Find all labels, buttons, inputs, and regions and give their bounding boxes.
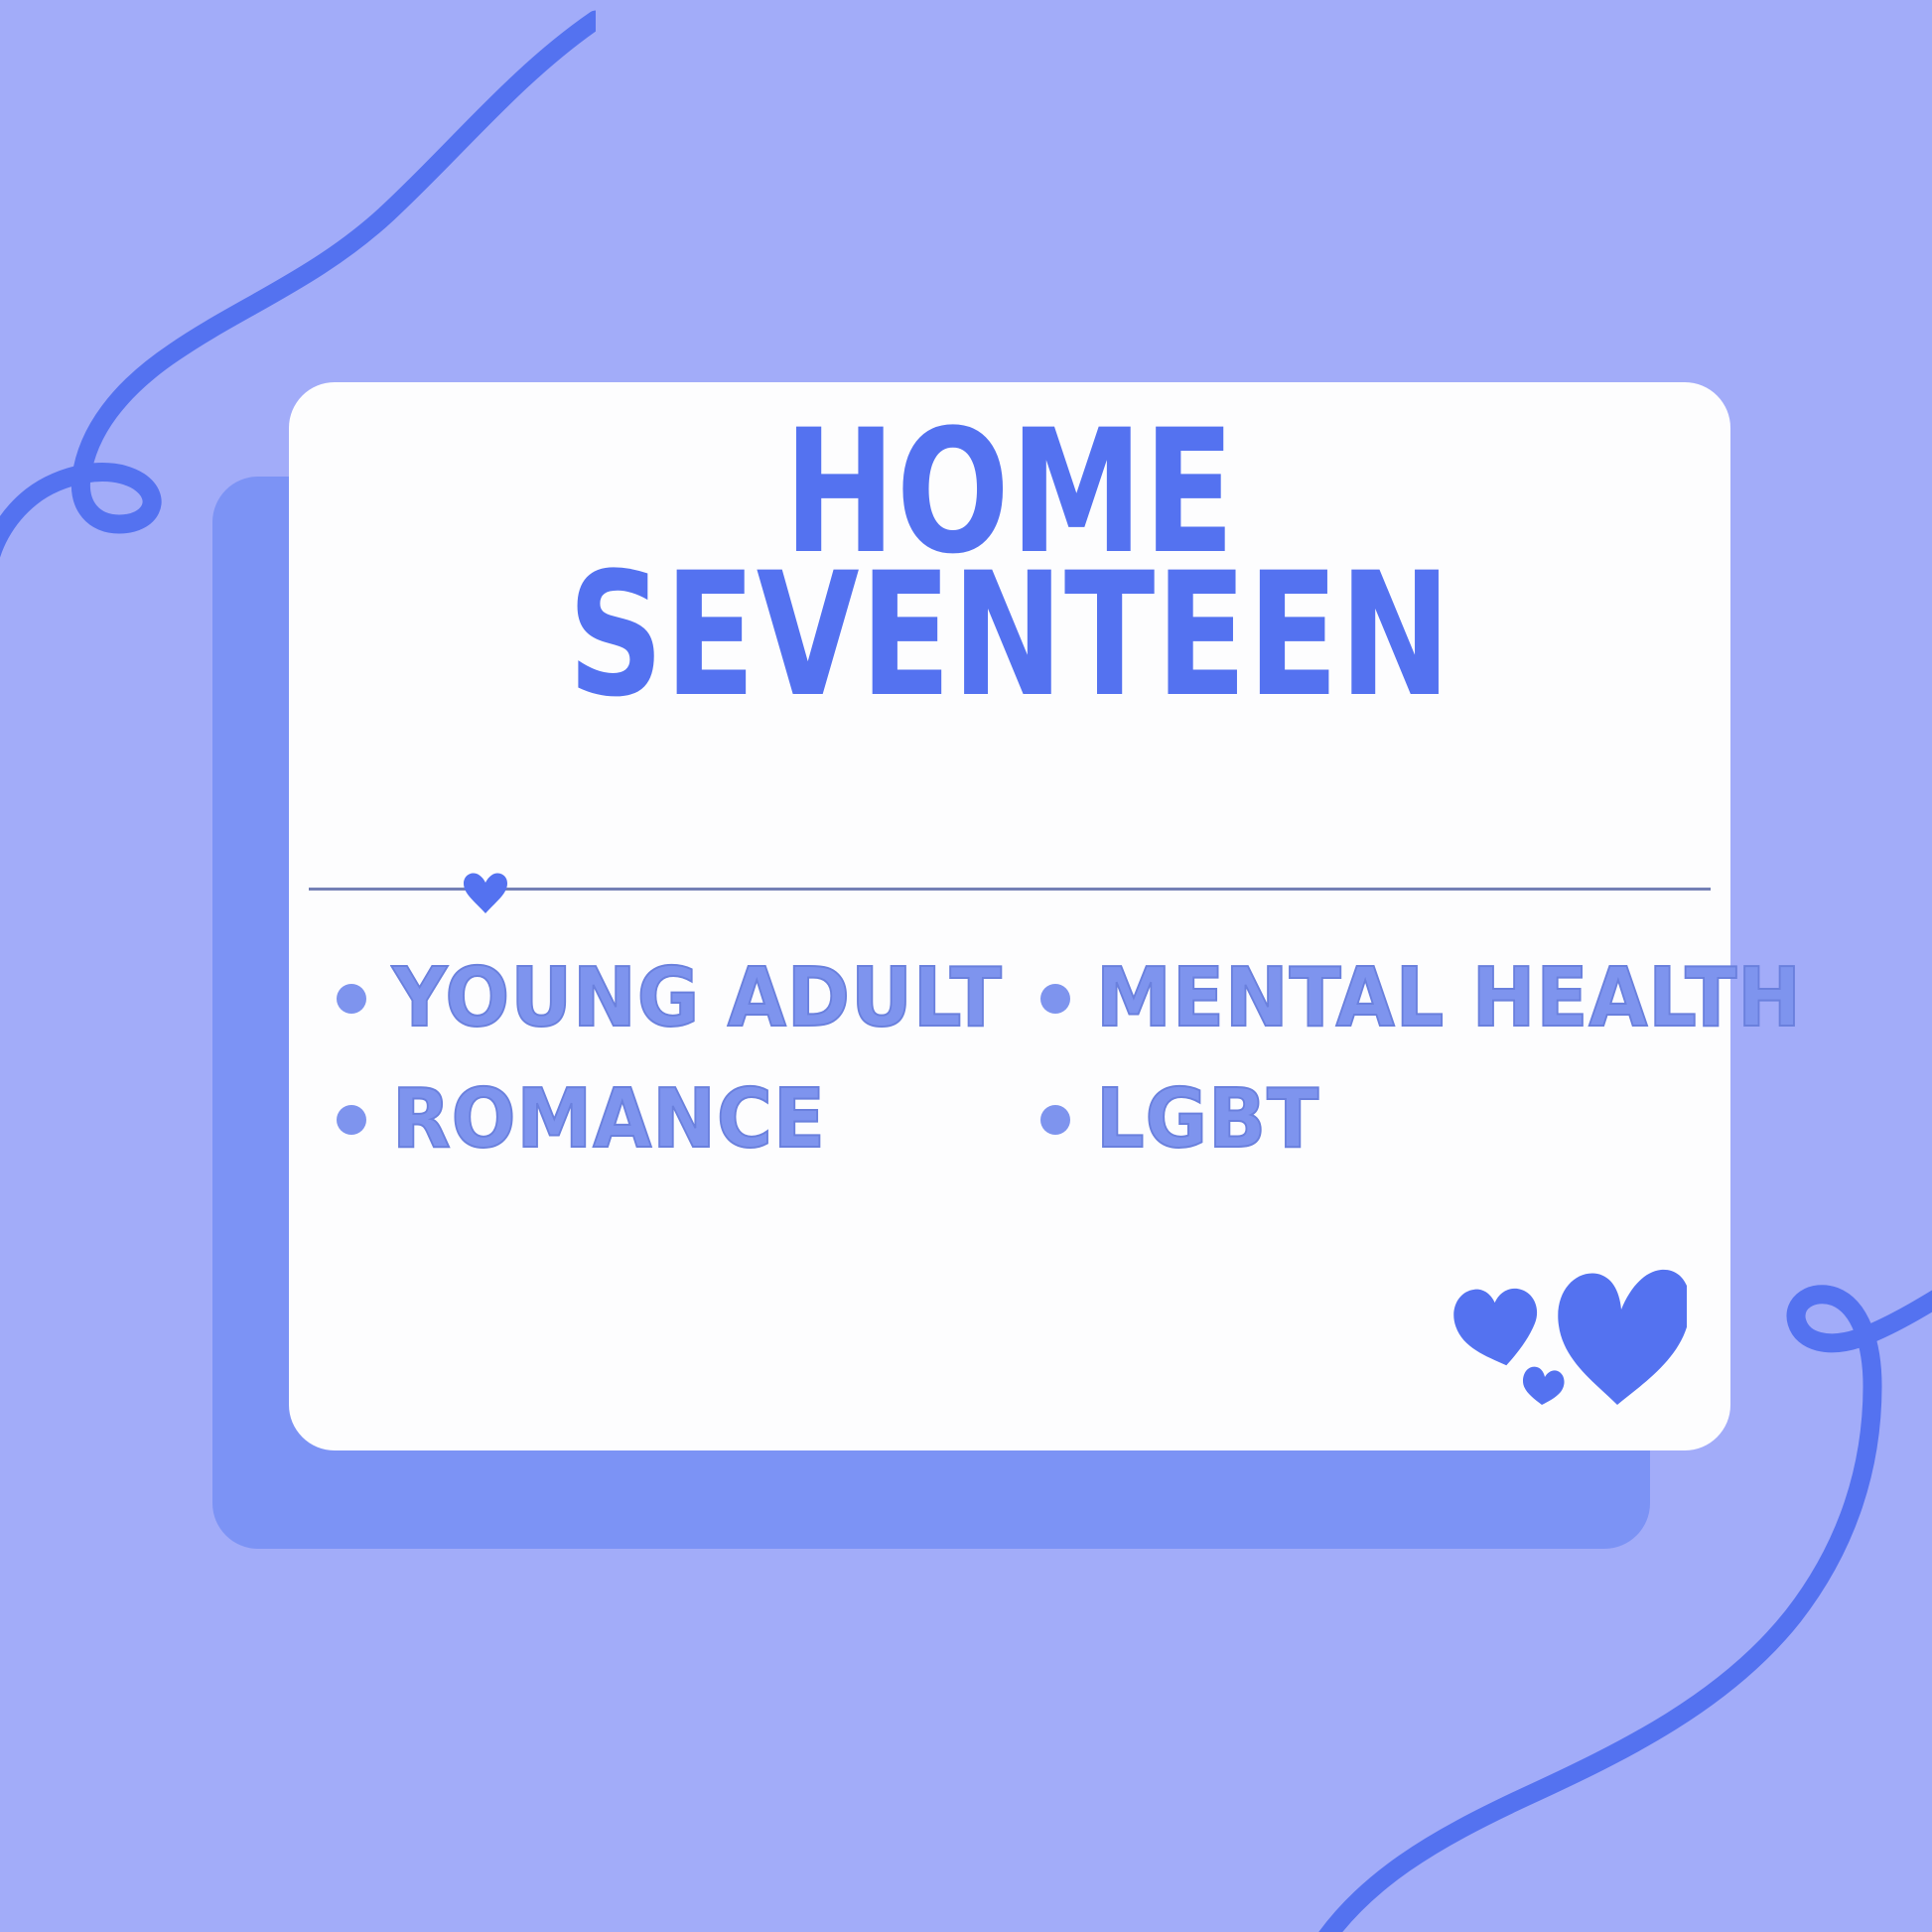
genre-label: ROMANCE: [392, 1079, 826, 1161]
heart-tiny-icon: [1523, 1367, 1565, 1405]
list-item[interactable]: ROMANCE: [337, 1079, 1040, 1161]
hearts-decoration: [1439, 1264, 1687, 1423]
list-item[interactable]: LGBT: [1040, 1079, 1691, 1161]
bullet-dot-icon: [337, 984, 366, 1014]
heart-icon: [463, 872, 508, 913]
genre-label: YOUNG ADULT: [392, 958, 1003, 1039]
title-line-2: SEVENTEEN: [448, 557, 1573, 714]
divider: [289, 869, 1730, 908]
heart-large-icon: [1558, 1270, 1687, 1405]
divider-line: [309, 888, 1711, 891]
heart-medium-icon: [1448, 1276, 1548, 1375]
page-title: HOME SEVENTEEN: [289, 402, 1730, 714]
list-item[interactable]: MENTAL HEALTH: [1040, 958, 1691, 1039]
bullet-dot-icon: [337, 1105, 366, 1135]
list-item[interactable]: YOUNG ADULT: [337, 958, 1040, 1039]
bullet-dot-icon: [1040, 1105, 1070, 1135]
poster-canvas: HOME SEVENTEEN YOUNG ADULT MENTAL HEALTH…: [0, 0, 1932, 1932]
genre-label: LGBT: [1096, 1079, 1319, 1161]
bullet-dot-icon: [1040, 984, 1070, 1014]
genre-label: MENTAL HEALTH: [1096, 958, 1802, 1039]
genre-list: YOUNG ADULT MENTAL HEALTH ROMANCE LGBT: [337, 938, 1691, 1180]
book-info-card: HOME SEVENTEEN YOUNG ADULT MENTAL HEALTH…: [289, 382, 1730, 1450]
